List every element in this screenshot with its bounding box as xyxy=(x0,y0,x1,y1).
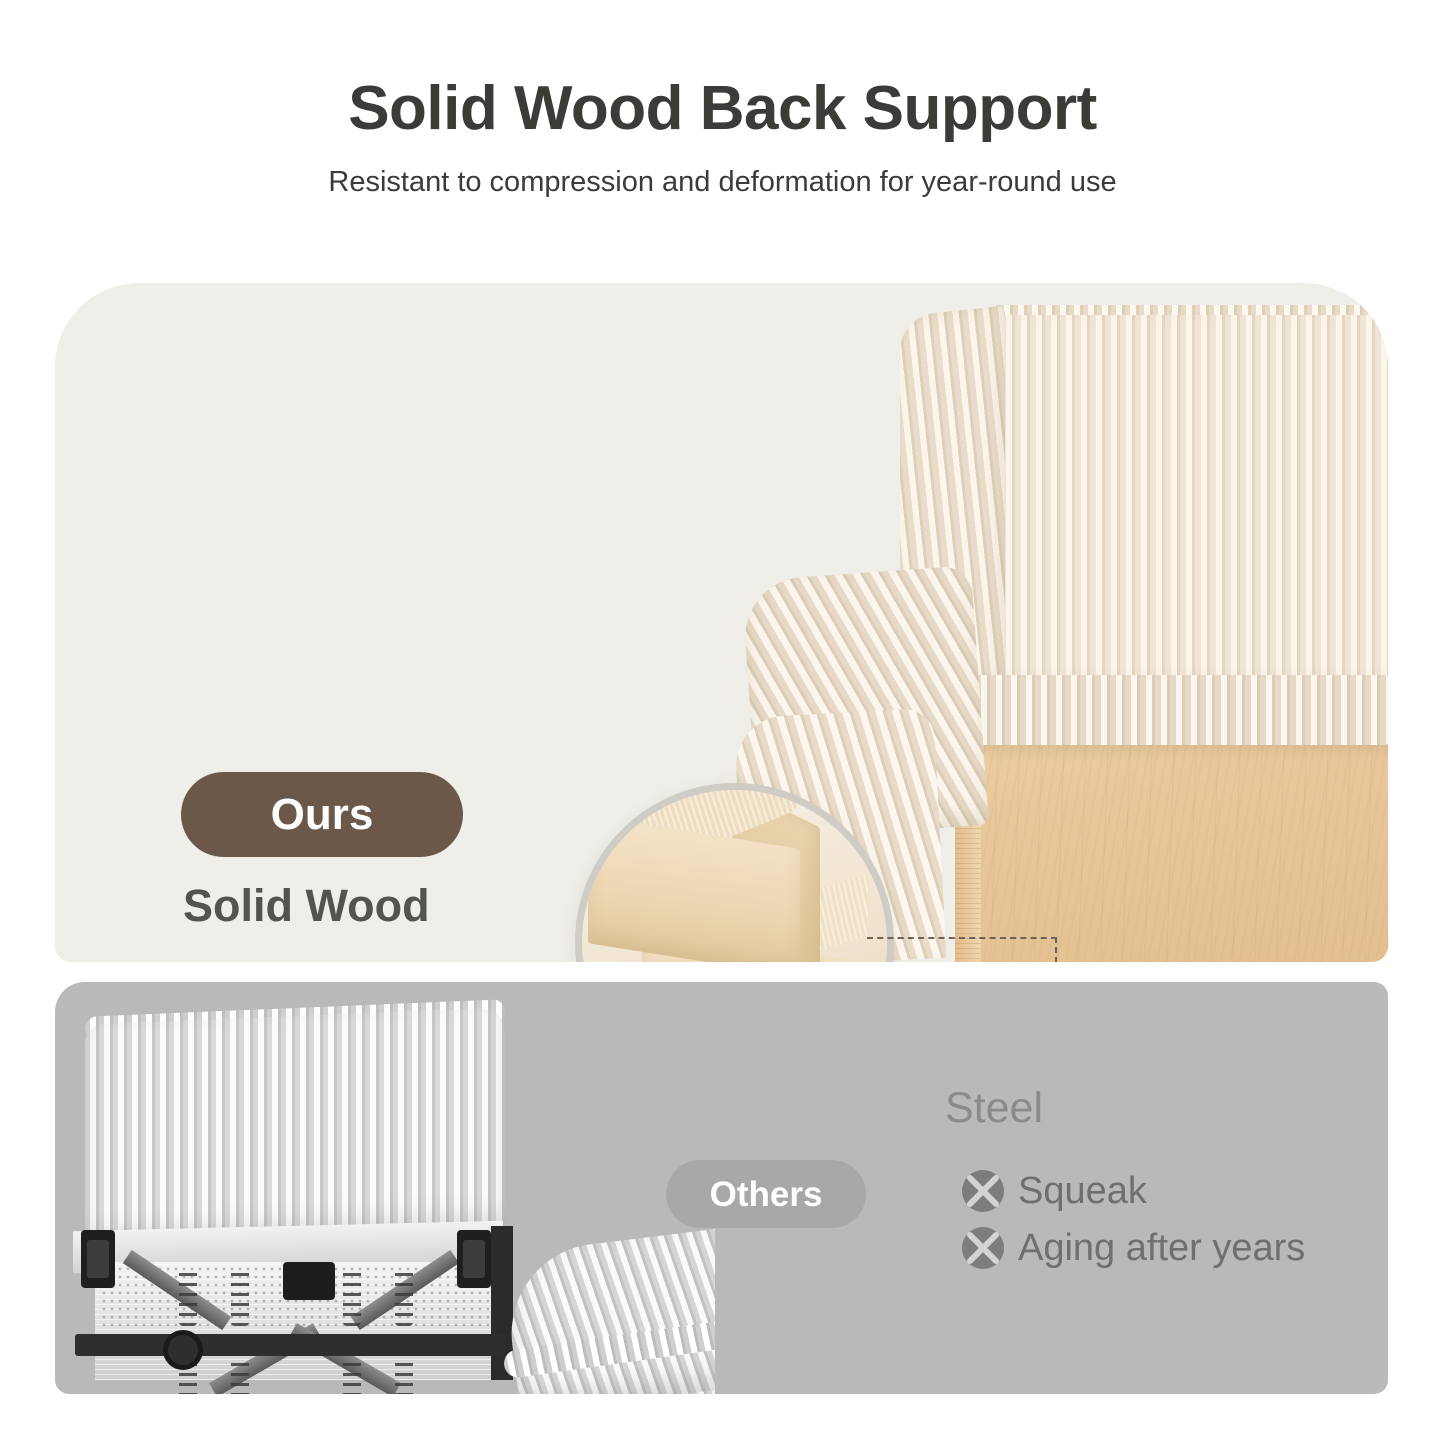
x-icon xyxy=(962,1170,1004,1212)
page-subtitle: Resistant to compression and deformation… xyxy=(0,168,1445,197)
others-feature-label: Squeak xyxy=(1018,1172,1147,1210)
zigzag-spring xyxy=(343,1268,361,1326)
others-feature-item: Squeak xyxy=(948,1162,1305,1219)
corduroy-backrest xyxy=(985,315,1388,715)
others-feature-label: Aging after years xyxy=(1018,1229,1305,1267)
corner-bracket xyxy=(457,1230,491,1288)
page-title: Solid Wood Back Support xyxy=(0,78,1445,140)
grayscale-sofa-photo xyxy=(55,982,715,1394)
ours-badge-label: Ours xyxy=(271,793,374,837)
corduroy-seat-roll xyxy=(915,675,1388,745)
page-header: Solid Wood Back Support Resistant to com… xyxy=(0,0,1445,197)
ours-material-label: Solid Wood xyxy=(183,883,430,928)
x-icon xyxy=(962,1227,1004,1269)
zigzag-spring xyxy=(395,1268,413,1326)
zigzag-spring xyxy=(179,1268,197,1326)
ours-badge: Ours xyxy=(181,772,463,857)
others-feature-list: Squeak Aging after years xyxy=(948,1162,1305,1276)
pivot-knob xyxy=(163,1330,203,1370)
gray-backrest-cushion xyxy=(85,1007,505,1243)
steel-crossbar xyxy=(75,1334,505,1356)
others-material-label: Steel xyxy=(945,1087,1043,1130)
ours-panel: Ours Solid Wood Squeak free Durable xyxy=(55,283,1388,962)
connector-line-horizontal xyxy=(867,937,1057,939)
others-badge-label: Others xyxy=(710,1177,823,1212)
others-feature-item: Aging after years xyxy=(948,1219,1305,1276)
connector-line-vertical xyxy=(1055,937,1057,962)
corner-bracket xyxy=(81,1230,115,1288)
others-badge: Others xyxy=(666,1160,866,1228)
center-bracket xyxy=(283,1262,335,1300)
zigzag-spring xyxy=(231,1268,249,1326)
